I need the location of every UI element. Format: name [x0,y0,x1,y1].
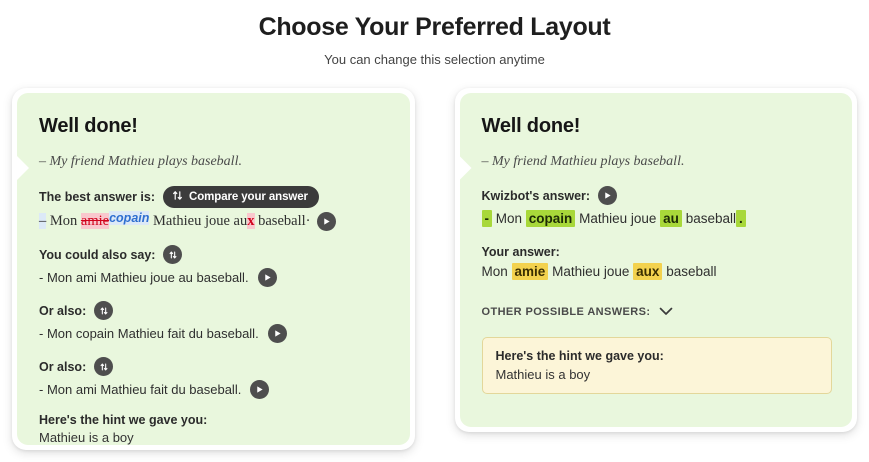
alternative-label-1: Or also: [39,304,86,318]
bubble-notch-icon [460,155,472,181]
corrected-answer-line: – Mon amiecopain Mathieu joue aux baseba… [39,212,390,231]
layout-options-row: Well done! – My friend Mathieu plays bas… [0,88,869,450]
your-answer-line: Mon amie Mathieu joue aux baseball [482,262,833,283]
play-icon[interactable] [250,380,269,399]
left-hint-text: Mathieu is a boy [39,430,390,445]
alternative-label-2: Or also: [39,360,86,374]
your-answer-label: Your answer: [482,245,833,259]
your-post: baseball [666,264,716,279]
alternative-label-row-2: Or also: [39,357,390,376]
play-icon[interactable] [258,268,277,287]
play-icon[interactable] [598,186,617,205]
alternative-text-2: - Mon ami Mathieu fait du baseball. [39,382,241,397]
your-highlight-aux: aux [633,263,662,280]
best-answer-row: The best answer is: Compare your answer [39,186,390,208]
sort-arrows-icon [172,190,183,204]
answer-post: baseball· [258,213,310,229]
layout-option-left[interactable]: Well done! – My friend Mathieu plays bas… [12,88,415,450]
left-hint-block: Here's the hint we gave you: Mathieu is … [39,413,390,445]
answer-dash: – [39,213,46,229]
right-card-title: Well done! [482,115,833,138]
corrected-answer-text: – Mon amiecopain Mathieu joue aux baseba… [39,213,310,230]
page-header: Choose Your Preferred Layout You can cha… [0,0,869,67]
play-icon[interactable] [317,212,336,231]
bot-answer-label: Kwizbot's answer: [482,189,591,203]
left-card-prompt: – My friend Mathieu plays baseball. [39,154,390,170]
alternative-label-row-0: You could also say: [39,245,390,264]
other-possible-answers-label: OTHER POSSIBLE ANSWERS: [482,306,651,318]
bot-highlight-au: au [660,210,682,227]
alternative-block-1: Or also: - Mon copain Mathieu fait du ba… [39,301,390,343]
alternative-block-2: Or also: - Mon ami Mathieu fait du baseb… [39,357,390,399]
bot-answer-label-row: Kwizbot's answer: [482,186,833,205]
best-answer-label: The best answer is: [39,190,155,204]
right-card-body: Well done! – My friend Mathieu plays bas… [460,93,853,427]
bot-pre: Mon [496,211,522,226]
bot-dash: - [482,210,493,227]
left-card-title: Well done! [39,115,390,138]
chevron-down-icon[interactable] [659,303,673,321]
compare-your-answer-button[interactable]: Compare your answer [163,186,319,208]
alternative-line-2: - Mon ami Mathieu fait du baseball. [39,380,390,399]
answer-pre: Mon [50,213,77,229]
answer-deleted-word: amie [81,213,109,229]
answer-inserted-x: x [247,213,254,229]
sort-arrows-icon[interactable] [163,245,182,264]
alternative-line-1: - Mon copain Mathieu fait du baseball. [39,324,390,343]
layout-option-right[interactable]: Well done! – My friend Mathieu plays bas… [455,88,858,432]
sort-arrows-icon[interactable] [94,357,113,376]
right-card-prompt: – My friend Mathieu plays baseball. [482,154,833,170]
bot-post: baseball [686,211,736,226]
your-highlight-amie: amie [512,263,549,280]
right-hint-text: Mathieu is a boy [496,367,819,382]
bot-mid: Mathieu joue [579,211,656,226]
your-pre: Mon [482,264,508,279]
alternative-text-1: - Mon copain Mathieu fait du baseball. [39,326,259,341]
play-icon[interactable] [268,324,287,343]
page-root: Choose Your Preferred Layout You can cha… [0,0,869,462]
compare-button-label: Compare your answer [189,191,308,203]
alternative-label-row-1: Or also: [39,301,390,320]
alternative-block-0: You could also say: - Mon ami Mathieu jo… [39,245,390,287]
alternative-label-0: You could also say: [39,248,155,262]
answer-mid: Mathieu joue au [153,213,247,229]
right-hint-title: Here's the hint we gave you: [496,349,819,363]
left-hint-title: Here's the hint we gave you: [39,413,390,427]
other-possible-answers-toggle[interactable]: OTHER POSSIBLE ANSWERS: [482,303,833,321]
your-mid: Mathieu joue [552,264,629,279]
page-subtitle: You can change this selection anytime [0,52,869,67]
alternative-line-0: - Mon ami Mathieu joue au baseball. [39,268,390,287]
right-hint-box: Here's the hint we gave you: Mathieu is … [482,337,833,394]
bubble-notch-icon [17,155,29,181]
bot-highlight-copain: copain [526,210,576,227]
page-title: Choose Your Preferred Layout [0,12,869,42]
bot-period: . [736,210,746,227]
left-card-body: Well done! – My friend Mathieu plays bas… [17,93,410,445]
bot-answer-line: - Mon copain Mathieu joue au baseball. [482,209,833,230]
answer-inserted-word: copain [109,211,149,225]
sort-arrows-icon[interactable] [94,301,113,320]
alternative-text-0: - Mon ami Mathieu joue au baseball. [39,270,249,285]
